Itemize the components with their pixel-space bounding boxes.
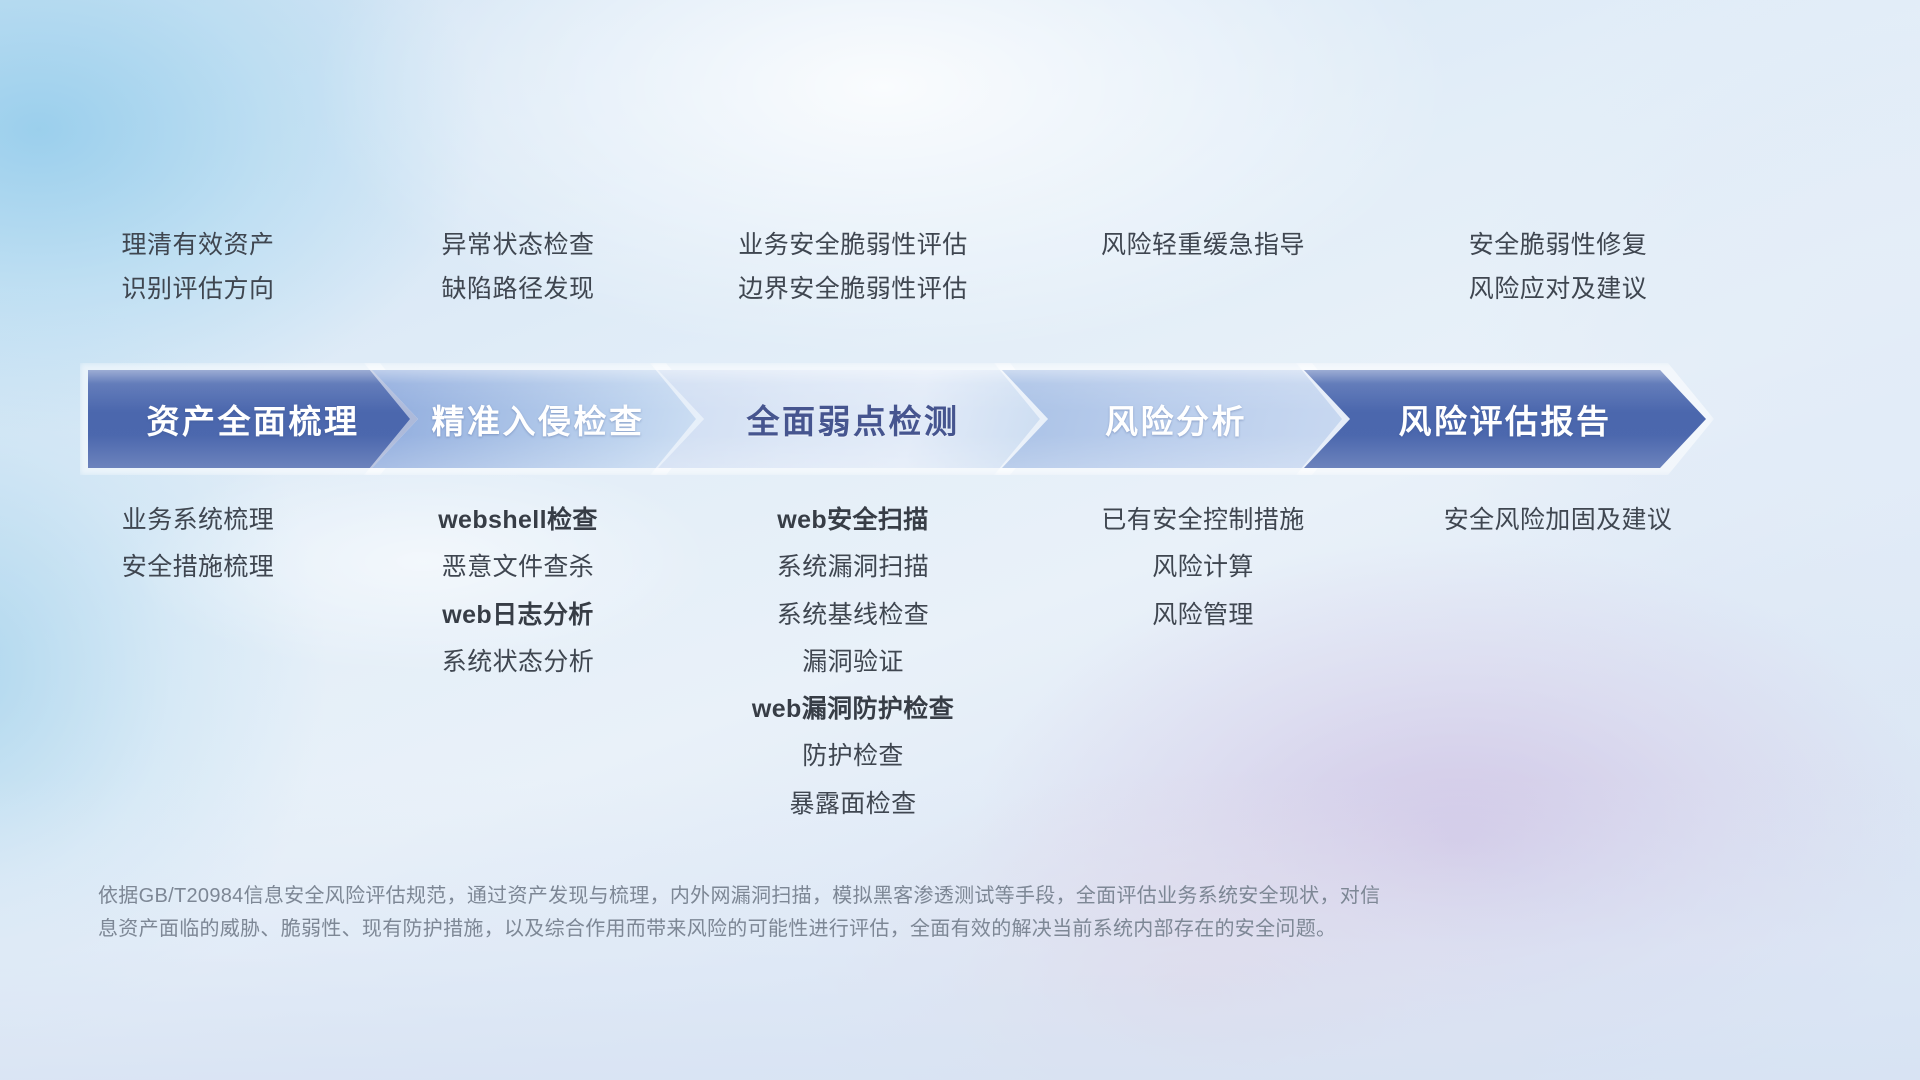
footer-description: 依据GB/T20984信息安全风险评估规范，通过资产发现与梳理，内外网漏洞扫描，… bbox=[98, 880, 1658, 946]
chevron-stage-asset-inventory[interactable]: 资产全面梳理 bbox=[88, 370, 418, 468]
list-item: 风险管理 bbox=[1152, 600, 1254, 631]
list-item: 恶意文件查杀 bbox=[442, 552, 594, 583]
slide-canvas: 理清有效资产 识别评估方向 异常状态检查 缺陷路径发现 业务安全脆弱性评估 边界… bbox=[0, 0, 1920, 1080]
chevron-label: 风险评估报告 bbox=[1399, 395, 1612, 443]
chevron-stage-weakness-detection[interactable]: 全面弱点检测 bbox=[658, 370, 1048, 468]
caption-line: 理清有效资产 bbox=[121, 230, 274, 260]
caption-col-risk-report: 安全脆弱性修复 风险应对及建议 bbox=[1368, 230, 1748, 350]
list-item: web漏洞防护检查 bbox=[752, 694, 954, 725]
stage-items-row: 业务系统梳理 安全措施梳理 webshell检查 恶意文件查杀 web日志分析 … bbox=[0, 505, 1920, 820]
items-col-risk-report: 安全风险加固及建议 bbox=[1368, 505, 1748, 536]
caption-col-weakness-detection: 业务安全脆弱性评估 边界安全脆弱性评估 bbox=[668, 230, 1038, 350]
caption-line: 风险轻重缓急指导 bbox=[1101, 230, 1305, 260]
list-item: 业务系统梳理 bbox=[122, 505, 274, 536]
stage-captions-row: 理清有效资产 识别评估方向 异常状态检查 缺陷路径发现 业务安全脆弱性评估 边界… bbox=[0, 230, 1920, 350]
list-item: web安全扫描 bbox=[777, 505, 928, 536]
items-col-asset-inventory: 业务系统梳理 安全措施梳理 bbox=[28, 505, 368, 584]
caption-line: 异常状态检查 bbox=[441, 230, 594, 260]
caption-line: 识别评估方向 bbox=[121, 274, 274, 304]
footer-line-1: 依据GB/T20984信息安全风险评估规范，通过资产发现与梳理，内外网漏洞扫描，… bbox=[98, 880, 1658, 913]
caption-col-risk-analysis: 风险轻重缓急指导 bbox=[1038, 230, 1368, 350]
list-item: webshell检查 bbox=[438, 505, 598, 536]
caption-line: 安全脆弱性修复 bbox=[1469, 230, 1648, 260]
list-item: 系统漏洞扫描 bbox=[777, 552, 929, 583]
list-item: 已有安全控制措施 bbox=[1101, 505, 1304, 536]
caption-line: 业务安全脆弱性评估 bbox=[738, 230, 968, 260]
caption-line: 风险应对及建议 bbox=[1469, 274, 1648, 304]
chevron-stage-risk-analysis[interactable]: 风险分析 bbox=[1002, 370, 1350, 468]
list-item: 系统基线检查 bbox=[777, 600, 929, 631]
chevron-label: 资产全面梳理 bbox=[147, 395, 360, 443]
chevron-label: 风险分析 bbox=[1105, 395, 1247, 443]
caption-line: 缺陷路径发现 bbox=[441, 274, 594, 304]
caption-line: 边界安全脆弱性评估 bbox=[738, 274, 968, 304]
list-item: 漏洞验证 bbox=[802, 647, 904, 678]
items-col-weakness-detection: web安全扫描 系统漏洞扫描 系统基线检查 漏洞验证 web漏洞防护检查 防护检… bbox=[668, 505, 1038, 820]
chevron-stage-risk-report[interactable]: 风险评估报告 bbox=[1304, 370, 1706, 468]
list-item: web日志分析 bbox=[442, 600, 593, 631]
items-col-risk-analysis: 已有安全控制措施 风险计算 风险管理 bbox=[1038, 505, 1368, 631]
list-item: 防护检查 bbox=[802, 741, 904, 772]
list-item: 安全措施梳理 bbox=[122, 552, 274, 583]
items-col-intrusion-check: webshell检查 恶意文件查杀 web日志分析 系统状态分析 bbox=[368, 505, 668, 678]
process-chevron-band: 资产全面梳理 精准入侵检查 全面弱点检测 bbox=[88, 370, 1848, 468]
list-item: 系统状态分析 bbox=[442, 647, 594, 678]
list-item: 安全风险加固及建议 bbox=[1444, 505, 1673, 536]
caption-col-asset-inventory: 理清有效资产 识别评估方向 bbox=[28, 230, 368, 350]
list-item: 暴露面检查 bbox=[789, 789, 916, 820]
chevron-label: 全面弱点检测 bbox=[747, 395, 960, 443]
list-item: 风险计算 bbox=[1152, 552, 1254, 583]
caption-col-intrusion-check: 异常状态检查 缺陷路径发现 bbox=[368, 230, 668, 350]
chevron-label: 精准入侵检查 bbox=[432, 395, 645, 443]
footer-line-2: 息资产面临的威胁、脆弱性、现有防护措施，以及综合作用而带来风险的可能性进行评估，… bbox=[98, 913, 1658, 946]
chevron-stage-intrusion-check[interactable]: 精准入侵检查 bbox=[372, 370, 704, 468]
